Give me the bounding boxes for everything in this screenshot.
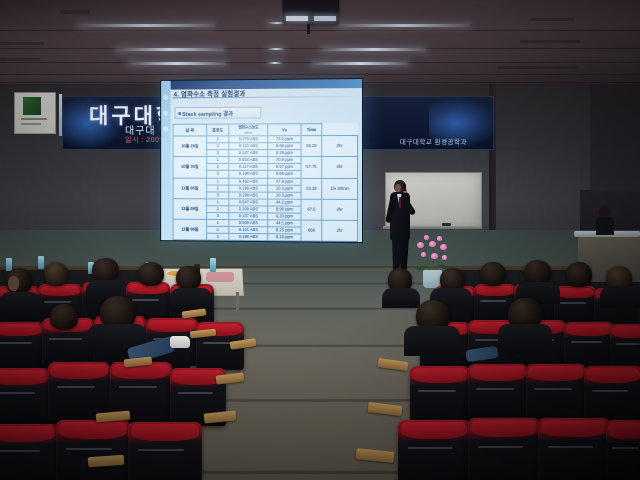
table-cell-conc: 73.2 ppm [268, 136, 301, 143]
seat [468, 364, 528, 420]
seated-person-at-podium [596, 206, 614, 234]
poster-logo [23, 97, 41, 115]
snowflake-icon: ❄ [162, 94, 170, 102]
ceiling-light-strip [268, 48, 284, 50]
slide-data-table: 날 짜흥광도염화수소농도(ppm)VsTime 10월 29일10.279 AB… [173, 123, 358, 242]
table-header-row: 날 짜흥광도염화수소농도(ppm)VsTime [173, 124, 357, 137]
snowflake-icon: ❄ [162, 110, 170, 118]
seat [56, 420, 130, 480]
table-cell-date: 10월 30일 [173, 157, 207, 178]
snowflake-icon: ❄ [162, 126, 170, 134]
table-header-cell: 흥광도 [207, 124, 229, 136]
seat [398, 420, 470, 480]
ceiling-light-strip [338, 24, 470, 27]
slide-bullet-box: Stack sampling 결과 [174, 107, 261, 119]
seat [526, 364, 586, 420]
table-cell-conc: 6.68 ppm [268, 171, 301, 178]
table-header-cell: Time [301, 124, 322, 136]
table-cell-vs: 67.75 [301, 157, 322, 178]
seat [0, 424, 58, 480]
table-cell-conc: 70.9 ppm [268, 157, 301, 164]
microphone-icon [403, 184, 406, 191]
ceiling [0, 0, 640, 86]
table-cell-abs: 0.934 ABS [229, 157, 268, 164]
slide-surface: ❄ ❄ ❄ 4. 염화수소 측정 실험결과 Stack sampling 결과 … [161, 79, 362, 242]
seat [128, 422, 202, 480]
table-cell-time: 2hr [322, 220, 358, 242]
seat [538, 418, 610, 480]
table-cell-conc: 8.16 ppm [268, 234, 301, 241]
audience-head [50, 304, 78, 330]
banner-department: 대구대학교 환경공학과 [400, 136, 467, 146]
seat [468, 418, 540, 480]
projector-mount [307, 24, 310, 34]
water-bottle [38, 256, 44, 269]
table-header-cell: 염화수소농도(ppm) [229, 124, 268, 136]
seat [410, 366, 470, 422]
seat [606, 420, 640, 480]
table-cell-time: 2hr [322, 157, 358, 178]
table-cell-conc: 6.39 ppm [268, 150, 301, 157]
table-cell-vs: 53.38 [301, 178, 322, 199]
seat [48, 362, 110, 420]
audience-head [44, 262, 68, 286]
table-cell-vs: 666 [301, 220, 322, 241]
table-cell-time: 1hr 40min [322, 178, 358, 199]
wall-light-tube [59, 94, 62, 136]
table-cell-no: 3 [207, 171, 229, 178]
projection-screen: ❄ ❄ ❄ 4. 염화수소 측정 실험결과 Stack sampling 결과 … [160, 78, 363, 243]
table-cell-date: 11월 06일 [173, 219, 207, 240]
table-cell-date: 11월 09일 [173, 199, 207, 220]
table-cell-vs: 69.28 [301, 136, 322, 157]
slide-bullet-label: Stack sampling 결과 [182, 109, 233, 117]
ceiling-light-strip [128, 62, 226, 65]
ceiling-light-strip [322, 48, 426, 51]
seat [0, 368, 50, 426]
audience-head [566, 262, 592, 287]
water-bottle [210, 258, 216, 272]
right-wall-panel [590, 84, 640, 204]
seat [584, 366, 640, 422]
shoe [170, 336, 190, 348]
table-cell-time: 2hr [322, 136, 358, 157]
marker-pen [442, 223, 451, 226]
table-cell-conc: 8.98 ppm [268, 143, 301, 150]
wall-poster [14, 92, 56, 134]
ceiling-light-strip [268, 62, 282, 64]
presenter-face [395, 184, 401, 192]
table-cell-date: 10월 29일 [173, 136, 207, 157]
audience-head [176, 266, 201, 290]
table-header-cell: 날 짜 [173, 124, 207, 136]
table-cell-conc: 9.57 ppm [268, 164, 301, 171]
auditorium-presentation-photo: 대구대학교 학생학숙발표회 대구대 발표회 일시 : 2009. 11. 20 … [0, 0, 640, 480]
table-cell-abs: 0.198 ABS [229, 234, 268, 241]
table-cell-abs: 0.110 ABS [229, 143, 268, 150]
ceiling-light-strip [78, 24, 214, 27]
table-cell-no: 3 [207, 233, 229, 240]
table-cell-abs: 0.279 ABS [229, 136, 268, 143]
table-cell-vs: 67.5 [301, 199, 322, 220]
table-cell-no: 2 [207, 143, 229, 150]
slide-sidebar [161, 81, 171, 240]
table-row: 10월 30일10.934 ABS70.9 ppm67.752hr [173, 157, 357, 164]
table-cell-time: 2hr [322, 199, 358, 220]
table-cell-abs: 0.117 ABS [229, 164, 268, 171]
table-cloth [206, 272, 234, 282]
projector-icon [283, 0, 339, 24]
ceiling-light-strip [116, 48, 224, 51]
table-cell-no: 1 [207, 157, 229, 164]
audience-head [138, 262, 164, 286]
table-cell-abs: 0.107 ABS [229, 150, 268, 157]
seat [554, 286, 596, 324]
table-cell-no: 1 [207, 136, 229, 143]
table-cell-no: 3 [207, 150, 229, 157]
table-cell-abs: 0.108 ABS [229, 171, 268, 178]
ceiling-light-strip [312, 62, 408, 65]
table-cell-no: 1 [207, 178, 229, 185]
table-cell-no: 2 [207, 164, 229, 171]
table-cell-date: 11월 06일 [173, 178, 207, 199]
seat [564, 322, 614, 368]
seat [0, 322, 44, 370]
seat [610, 324, 640, 370]
table-header-cell: Vs [268, 124, 301, 136]
audience-head [480, 262, 506, 286]
